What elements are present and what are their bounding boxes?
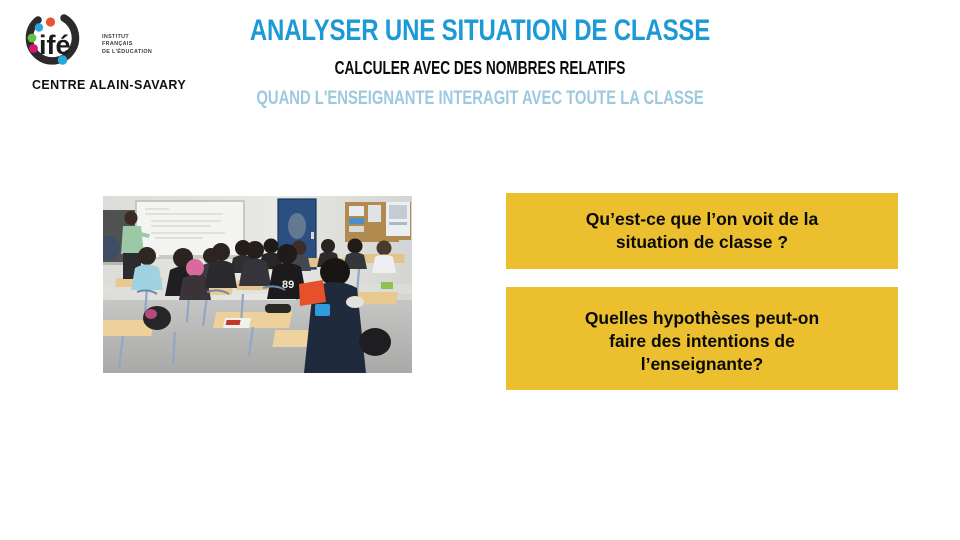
- ife-logo-mark: ifé: [18, 10, 82, 72]
- question-box-2-text: Quelles hypothèses peut-on faire des int…: [585, 301, 819, 376]
- question-box-1: Qu’est-ce que l’on voit de la situation …: [506, 193, 898, 269]
- slide-subtitle-secondary: QUAND L'ENSEIGNANTE INTERAGIT AVEC TOUTE…: [106, 88, 855, 110]
- question-1-line-2: situation de classe ?: [616, 232, 788, 252]
- slide-subtitle-primary: CALCULER AVEC DES NOMBRES RELATIFS: [115, 58, 845, 79]
- logo-dot-orange: [46, 17, 55, 26]
- logo-dot-green: [28, 34, 37, 43]
- logo-dot-magenta: [29, 44, 38, 53]
- question-1-line-1: Qu’est-ce que l’on voit de la: [586, 209, 818, 229]
- classroom-photo: 89: [103, 196, 412, 373]
- question-box-1-text: Qu’est-ce que l’on voit de la situation …: [586, 208, 818, 254]
- slide-title: ANALYSER UNE SITUATION DE CLASSE: [96, 14, 864, 48]
- question-2-line-1: Quelles hypothèses peut-on: [585, 308, 819, 328]
- logo-wordmark: ifé: [39, 30, 71, 60]
- logo-org-line-3: DE L'ÉDUCATION: [102, 49, 174, 56]
- question-2-line-2: faire des intentions de: [609, 331, 795, 351]
- question-box-2: Quelles hypothèses peut-on faire des int…: [506, 287, 898, 390]
- question-2-line-3: l’enseignante?: [641, 354, 764, 374]
